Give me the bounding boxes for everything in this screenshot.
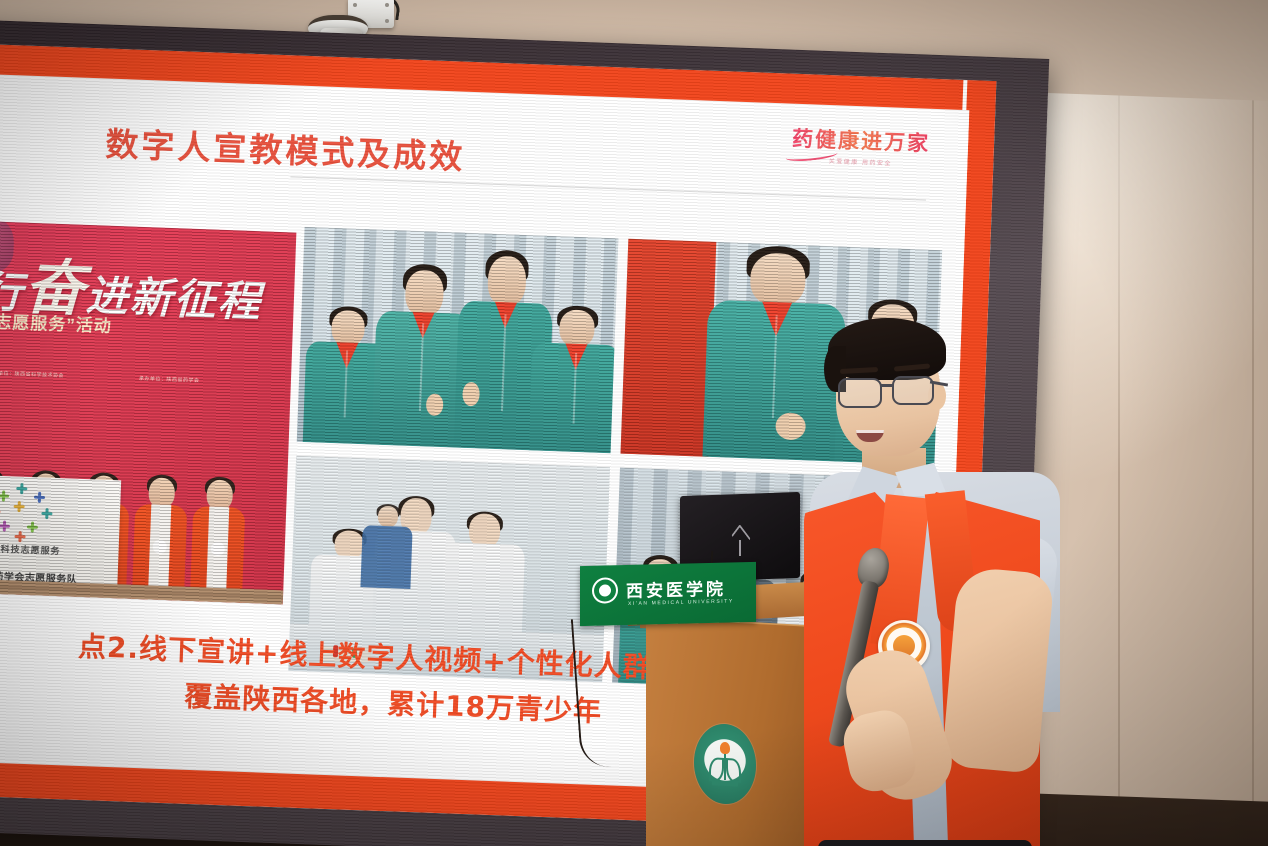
flag-line-1: 中国科技志愿服务 <box>0 539 119 559</box>
university-seal-icon <box>592 577 618 604</box>
eyeglasses-icon <box>892 376 934 405</box>
grid-photo-top-left <box>297 227 619 454</box>
lectern-sign-english: XI'AN MEDICAL UNIVERSITY <box>628 598 734 607</box>
eyeglasses-bridge <box>880 384 894 387</box>
speaker-right-arm <box>941 566 1054 774</box>
eyeglasses-icon <box>838 378 882 408</box>
speaker-trousers <box>818 840 1032 846</box>
volunteer-star-logo-icon <box>0 481 60 540</box>
lectern-sign-name: 西安医学院 <box>626 575 726 602</box>
brand-logo: 药健康进万家 关爱健康 用药安全 <box>791 123 930 169</box>
banner-credit-right: 承办单位：陕西省药学会 <box>139 375 200 384</box>
speaker-person <box>800 320 1100 846</box>
presentation-scene: 药健康进万家 关爱健康 用药安全 数字人宣教模式及成效 志愿行奋进新征程 青年“… <box>0 0 1268 846</box>
slide-title: 数字人宣教模式及成效 <box>105 118 467 179</box>
banner-credit-left: 主办单位：陕西省科学技术协会 <box>0 369 64 379</box>
lectern-sign: 西安医学院 XI'AN MEDICAL UNIVERSITY <box>580 562 756 626</box>
event-photo-left: 志愿行奋进新征程 青年“学雷锋志愿服务”活动 主办单位：陕西省科学技术协会 承办… <box>0 218 296 604</box>
volunteer-figure <box>185 479 252 605</box>
title-underline <box>290 176 926 200</box>
